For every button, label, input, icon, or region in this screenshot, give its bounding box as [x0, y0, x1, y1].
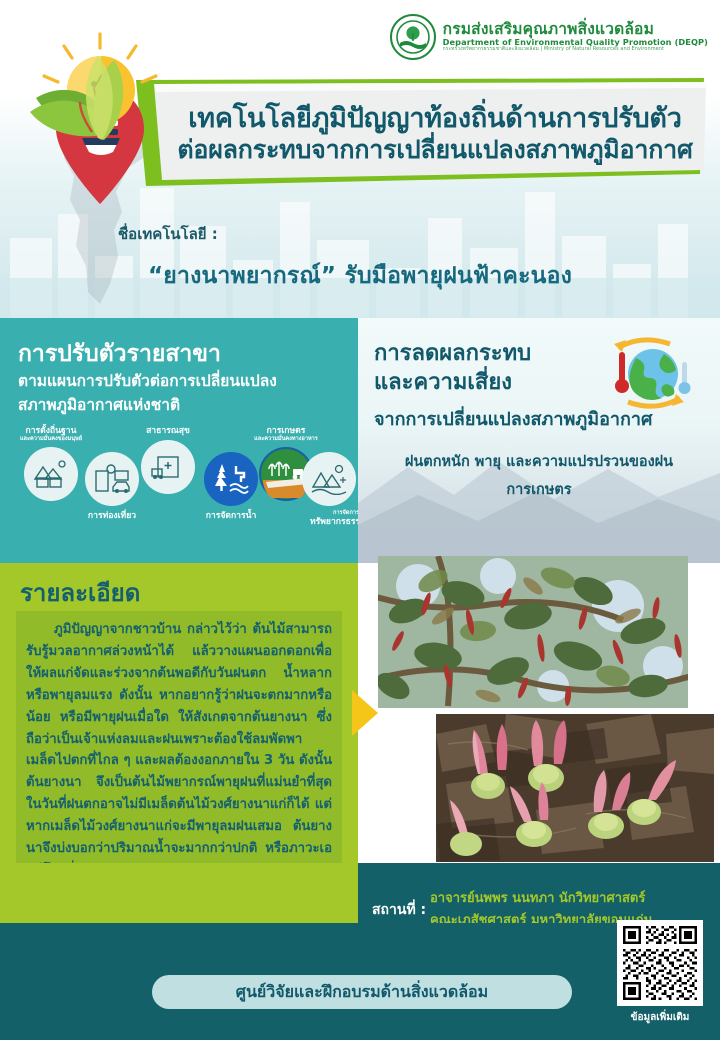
sector-adaptation-panel: การปรับตัวรายสาขา ตามแผนการปรับตัวต่อการ… — [0, 318, 358, 563]
sector-label-settlement: การตั้งถิ่นฐาน — [12, 426, 90, 436]
credit-green-block — [0, 863, 358, 923]
natural-resources-mountain-icon — [302, 452, 356, 506]
mitigation-panel: การลดผลกระทบและความเสี่ยง จากการเปลี่ยนแ… — [358, 318, 720, 563]
poster-root: กรมส่งเสริมคุณภาพสิ่งแวดล้อม Department … — [0, 0, 720, 1040]
sector-panel-subheading: ตามแผนการปรับตัวต่อการเปลี่ยนแปลงสภาพภูม… — [18, 370, 348, 417]
location-label: สถานที่ : — [372, 899, 426, 921]
deqp-logo: กรมส่งเสริมคุณภาพสิ่งแวดล้อม Department … — [390, 14, 708, 60]
technology-name-value: “ยางนาพยากรณ์” รับมือพายุฝนฟ้าคะนอง — [0, 258, 720, 294]
impact-line-2: การเกษตร — [358, 478, 720, 501]
qr-caption: ข้อมูลเพิ่มเติม — [617, 1010, 703, 1025]
location-line-1: อาจารย์นพพร นนทภา นักวิทยาศาสตร์ — [430, 887, 645, 908]
research-center-pill[interactable]: ศูนย์วิจัยและฝึกอบรมด้านสิ่งแวดล้อม — [152, 975, 572, 1009]
sector-sublabel-settlement: และความมั่นคงของมนุษย์ — [12, 436, 90, 443]
public-health-hospital-icon — [141, 440, 195, 494]
poster-header: กรมส่งเสริมคุณภาพสิ่งแวดล้อม Department … — [0, 0, 720, 318]
sector-label-public-health: สาธารณสุข — [130, 426, 206, 436]
sector-icon-row: การตั้งถิ่นฐาน และความมั่นคงของมนุษย์ — [0, 448, 358, 548]
details-heading: รายละเอียด — [20, 573, 140, 612]
impact-line-1: ฝนตกหนัก พายุ และความแปรปรวนของฝน — [358, 450, 720, 473]
deqp-ministry: กระทรวงทรัพยากรธรรมชาติและสิ่งแวดล้อม | … — [443, 47, 708, 53]
sector-sublabel-agriculture: และความมั่นคงทางอาหาร — [246, 436, 326, 443]
sector-label-water-management: การจัดการน้ำ — [188, 511, 274, 521]
qr-code-icon[interactable] — [617, 920, 703, 1006]
title-line-2: ต่อผลกระทบจากการเปลี่ยนแปลงสภาพภูมิอากาศ — [177, 135, 692, 165]
sector-label-natural-resources: ทรัพยากรธรรมชาติ — [298, 517, 358, 527]
globe-thermometer-icon — [596, 332, 702, 418]
mitigation-heading: การลดผลกระทบและความเสี่ยง — [374, 340, 531, 397]
yang-na-tree-photo — [378, 556, 688, 708]
deqp-name-th: กรมส่งเสริมคุณภาพสิ่งแวดล้อม — [443, 21, 708, 38]
poster-title: เทคโนโลยีภูมิปัญญาท้องถิ่นด้านการปรับตัว… — [152, 88, 704, 180]
thermometer-blue-icon — [679, 362, 691, 394]
sector-label-agriculture: การเกษตร — [246, 426, 326, 436]
title-line-1: เทคโนโลยีภูมิปัญญาท้องถิ่นด้านการปรับตัว — [188, 103, 681, 135]
yang-na-seeds-photo — [436, 714, 714, 862]
technology-name-label: ชื่อเทคโนโลยี : — [118, 222, 218, 246]
thermometer-red-icon — [615, 352, 629, 393]
sector-item-natural-resources[interactable]: การจัดการ ทรัพยากรธรรมชาติ — [298, 452, 358, 527]
yellow-arrow-pointer-icon — [352, 690, 382, 736]
deqp-seal-icon — [390, 14, 436, 60]
sector-panel-heading: การปรับตัวรายสาขา — [18, 336, 221, 372]
sector-label-tourism: การท่องเที่ยว — [70, 511, 154, 521]
sector-sublabel-natural-resources: การจัดการ — [298, 510, 358, 517]
